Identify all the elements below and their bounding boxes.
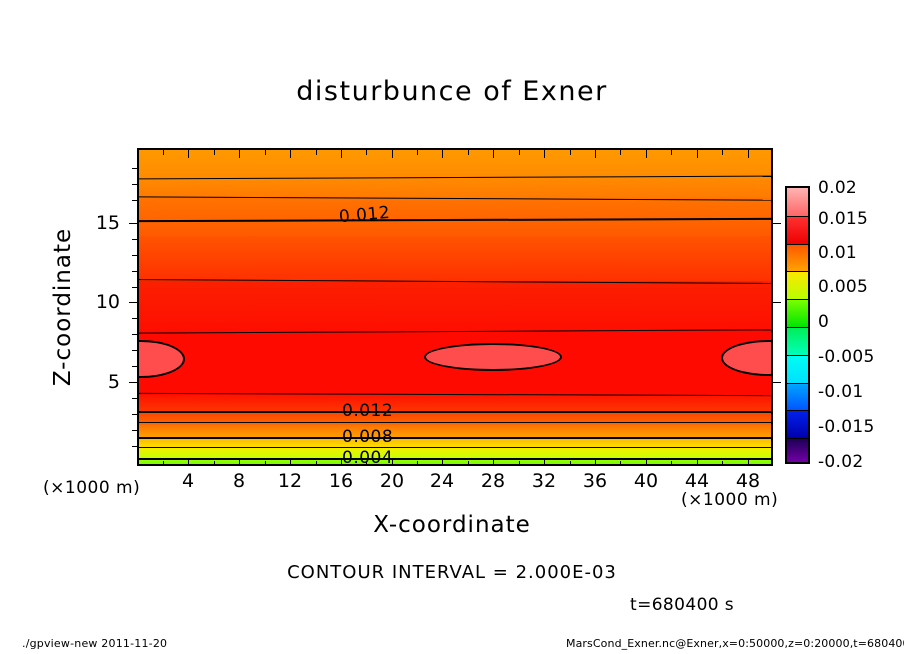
x-tick-top-minor bbox=[214, 150, 215, 155]
contour-label-lower-1: 0.012 bbox=[342, 403, 393, 420]
x-tick-top bbox=[290, 150, 291, 158]
contour-plot-area[interactable]: 0.012 0.012 0.008 0.004 bbox=[137, 148, 773, 466]
colorbar-label: -0.01 bbox=[818, 382, 864, 402]
x-tick-top bbox=[646, 150, 647, 158]
x-tick-label: 12 bbox=[278, 470, 302, 492]
x-tick-minor bbox=[316, 461, 317, 466]
colorbar-label: -0.005 bbox=[818, 347, 875, 367]
contour-line bbox=[137, 422, 773, 423]
figure-canvas: disturbunce of Exner bbox=[0, 0, 904, 654]
colorbar-segment-1 bbox=[787, 410, 808, 438]
x-tick-top bbox=[188, 150, 189, 158]
colorbar-divider bbox=[787, 383, 808, 384]
contour-blob-center bbox=[424, 343, 562, 371]
y-tick-right bbox=[773, 302, 781, 303]
contour-label-upper: 0.012 bbox=[338, 205, 390, 226]
x-tick-top-minor bbox=[366, 150, 367, 155]
contour-label-lower-3: 0.004 bbox=[342, 450, 393, 466]
x-tick-label: 16 bbox=[329, 470, 353, 492]
x-tick bbox=[595, 458, 596, 466]
x-tick-top-minor bbox=[722, 150, 723, 155]
colorbar-label: -0.015 bbox=[818, 417, 875, 437]
x-tick-label: 20 bbox=[380, 470, 404, 492]
x-tick-top bbox=[595, 150, 596, 158]
y-tick-minor bbox=[132, 239, 137, 240]
x-axis-title: X-coordinate bbox=[0, 512, 904, 538]
x-tick-minor bbox=[570, 461, 571, 466]
contour-line bbox=[137, 464, 773, 465]
x-tick-label: 44 bbox=[685, 470, 709, 492]
x-tick-top-minor bbox=[468, 150, 469, 155]
x-tick-top-minor bbox=[316, 150, 317, 155]
contour-line-0008 bbox=[137, 437, 773, 439]
colorbar-label: 0.02 bbox=[818, 178, 857, 198]
y-tick-minor bbox=[132, 318, 137, 319]
x-tick-label: 36 bbox=[583, 470, 607, 492]
colorbar-segment-6 bbox=[787, 271, 808, 299]
colorbar-segment-5 bbox=[787, 299, 808, 327]
colorbar-segment-8 bbox=[787, 216, 808, 244]
band-0014b bbox=[139, 395, 771, 411]
band-0010b bbox=[139, 425, 771, 437]
y-tick-minor bbox=[132, 366, 137, 367]
x-tick bbox=[239, 458, 240, 466]
colorbar-divider bbox=[787, 438, 808, 439]
x-tick-label: 4 bbox=[182, 470, 194, 492]
y-tick bbox=[129, 382, 137, 383]
page-title: disturbunce of Exner bbox=[0, 76, 904, 107]
y-tick-minor bbox=[132, 350, 137, 351]
y-tick-right bbox=[773, 223, 781, 224]
colorbar-divider bbox=[787, 355, 808, 356]
y-tick-minor bbox=[132, 430, 137, 431]
x-tick-top-minor bbox=[163, 150, 164, 155]
time-stamp: t=680400 s bbox=[630, 595, 734, 615]
colorbar-divider bbox=[787, 216, 808, 217]
contour-label-lower-2: 0.008 bbox=[342, 429, 393, 446]
x-tick-minor bbox=[671, 461, 672, 466]
x-tick-label: 8 bbox=[233, 470, 245, 492]
x-tick-top bbox=[544, 150, 545, 158]
contour-interval-note: CONTOUR INTERVAL = 2.000E-03 bbox=[0, 562, 904, 583]
y-tick-minor bbox=[132, 446, 137, 447]
colorbar-segment-0 bbox=[787, 438, 808, 464]
x-tick-minor bbox=[620, 461, 621, 466]
x-tick-minor bbox=[468, 461, 469, 466]
colorbar-segment-9 bbox=[787, 188, 808, 216]
x-tick-top-minor bbox=[620, 150, 621, 155]
colorbar-segment-3 bbox=[787, 355, 808, 383]
colorbar-segment-2 bbox=[787, 383, 808, 411]
colorbar-label: 0.005 bbox=[818, 277, 868, 297]
x-tick-label: 48 bbox=[736, 470, 760, 492]
contour-line-0004 bbox=[137, 458, 773, 460]
x-axis-unit-right: (×1000 m) bbox=[681, 490, 778, 510]
colorbar-divider bbox=[787, 244, 808, 245]
colorbar-label: -0.02 bbox=[818, 452, 864, 472]
x-axis-unit-left: (×1000 m) bbox=[43, 478, 140, 498]
y-tick-label: 10 bbox=[82, 291, 120, 313]
colorbar-segment-7 bbox=[787, 244, 808, 272]
colorbar[interactable] bbox=[785, 186, 810, 464]
y-tick-minor bbox=[132, 184, 137, 185]
y-tick bbox=[129, 223, 137, 224]
y-axis-title: Z-coordinate bbox=[50, 197, 76, 417]
x-tick-label: 28 bbox=[481, 470, 505, 492]
x-tick-top-minor bbox=[265, 150, 266, 155]
x-tick bbox=[188, 458, 189, 466]
x-tick-top bbox=[697, 150, 698, 158]
band-0013 bbox=[139, 236, 771, 281]
contour-line bbox=[137, 447, 773, 448]
x-tick-top bbox=[748, 150, 749, 158]
y-tick-minor bbox=[132, 398, 137, 399]
x-tick-top-minor bbox=[417, 150, 418, 155]
x-tick-minor bbox=[214, 461, 215, 466]
x-tick-minor bbox=[163, 461, 164, 466]
x-tick-top bbox=[493, 150, 494, 158]
colorbar-divider bbox=[787, 271, 808, 272]
colorbar-divider bbox=[787, 410, 808, 411]
y-tick bbox=[129, 302, 137, 303]
x-tick-minor bbox=[265, 461, 266, 466]
x-tick bbox=[442, 458, 443, 466]
y-tick-label: 5 bbox=[82, 371, 120, 393]
x-tick bbox=[493, 458, 494, 466]
band-0011 bbox=[139, 176, 771, 198]
x-tick-label: 32 bbox=[532, 470, 556, 492]
band-0010 bbox=[139, 150, 771, 176]
colorbar-divider bbox=[787, 327, 808, 328]
colorbar-segment-4 bbox=[787, 327, 808, 355]
x-tick bbox=[544, 458, 545, 466]
x-tick-label: 40 bbox=[634, 470, 658, 492]
x-tick bbox=[290, 458, 291, 466]
contour-line-0012-lower bbox=[137, 411, 773, 413]
y-tick-right bbox=[773, 382, 781, 383]
y-tick-minor bbox=[132, 334, 137, 335]
band-0014 bbox=[139, 281, 771, 331]
y-tick-minor bbox=[132, 200, 137, 201]
footer-command: ./gpview-new 2011-11-20 bbox=[22, 637, 167, 650]
x-tick bbox=[646, 458, 647, 466]
x-tick-top-minor bbox=[519, 150, 520, 155]
x-tick bbox=[697, 458, 698, 466]
x-tick-minor bbox=[519, 461, 520, 466]
y-tick-minor bbox=[132, 414, 137, 415]
x-tick-minor bbox=[417, 461, 418, 466]
x-tick-minor bbox=[722, 461, 723, 466]
x-tick-top bbox=[239, 150, 240, 158]
colorbar-divider bbox=[787, 299, 808, 300]
x-tick-top bbox=[392, 150, 393, 158]
x-tick-label: 24 bbox=[430, 470, 454, 492]
y-tick-label: 15 bbox=[82, 212, 120, 234]
colorbar-label: 0 bbox=[818, 312, 829, 332]
y-tick-minor bbox=[132, 255, 137, 256]
colorbar-label: 0.01 bbox=[818, 243, 857, 263]
band-0012 bbox=[139, 198, 771, 236]
x-tick-top bbox=[341, 150, 342, 158]
y-tick-minor bbox=[132, 271, 137, 272]
x-tick bbox=[748, 458, 749, 466]
footer-source: MarsCond_Exner.nc@Exner,x=0:50000,z=0:20… bbox=[566, 637, 904, 650]
band-0006 bbox=[139, 448, 771, 458]
x-tick-top-minor bbox=[570, 150, 571, 155]
x-tick-top bbox=[442, 150, 443, 158]
y-tick-minor bbox=[132, 287, 137, 288]
contour-field bbox=[139, 150, 771, 464]
x-tick-top-minor bbox=[671, 150, 672, 155]
y-tick-minor bbox=[132, 168, 137, 169]
colorbar-label: 0.015 bbox=[818, 209, 868, 229]
